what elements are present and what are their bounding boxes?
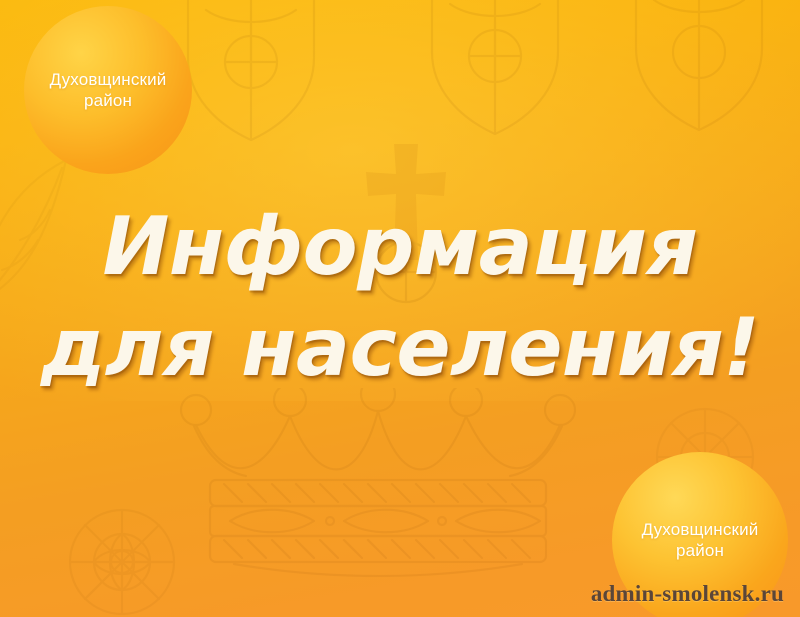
page-title: Информация для населения!: [0, 196, 800, 398]
page-title-line-2: для населения!: [0, 297, 800, 398]
rosette-icon: [52, 492, 192, 617]
leaf-ornament-icon: [0, 150, 86, 310]
district-badge-top-left-line-2: район: [84, 91, 132, 110]
crown-icon: [168, 388, 588, 588]
page-title-line-1: Информация: [0, 196, 800, 297]
coat-of-arms-shield-icon: [624, 0, 774, 138]
coat-of-arms-shield-icon: [420, 0, 570, 142]
district-badge-top-left-text: Духовщинскийрайон: [42, 69, 175, 112]
district-badge-top-left-line-1: Духовщинский: [50, 70, 167, 89]
district-badge-bottom-right-line-1: Духовщинский: [642, 520, 759, 539]
district-badge-bottom-right-text: Духовщинскийрайон: [634, 519, 767, 562]
district-badge-top-left: Духовщинскийрайон: [24, 6, 192, 174]
coat-of-arms-shield-icon: [176, 0, 326, 148]
district-badge-bottom-right-line-2: район: [676, 541, 724, 560]
site-url-watermark: admin-smolensk.ru: [591, 581, 784, 607]
orb-cross-icon: [330, 140, 482, 308]
information-banner: Духовщинскийрайон Информация для населен…: [0, 0, 800, 617]
